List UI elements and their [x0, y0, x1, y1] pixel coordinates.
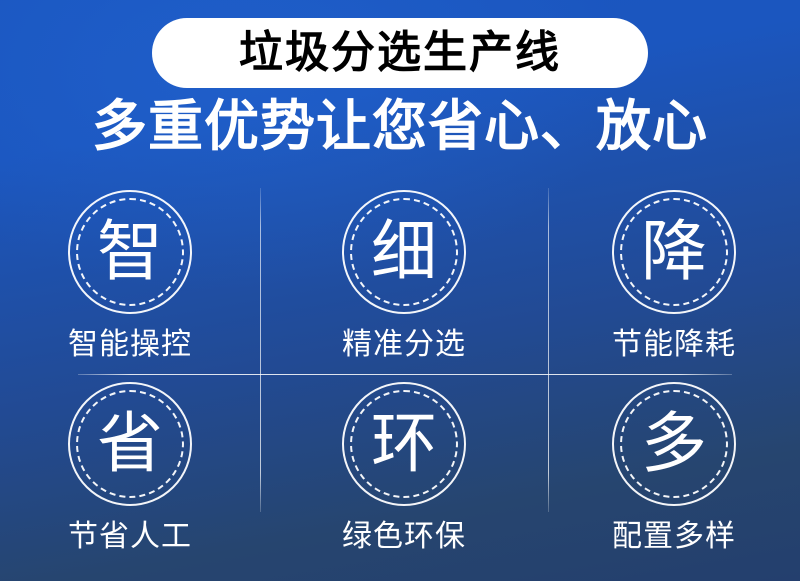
medallion-glyph: 智	[97, 219, 163, 285]
feature-label: 绿色环保	[342, 520, 466, 553]
medallion-glyph: 细	[371, 219, 437, 285]
feature-item-flexible-config: 多 配置多样	[548, 374, 800, 581]
medallion-glyph: 环	[371, 411, 437, 477]
feature-label: 智能操控	[68, 328, 192, 361]
medallion-circle-icon: 降	[612, 190, 736, 314]
page-title: 垃圾分选生产线	[239, 31, 561, 75]
medallion-circle-icon: 多	[612, 382, 736, 506]
feature-label: 配置多样	[612, 520, 736, 553]
feature-item-labor-saving: 省 节省人工	[0, 374, 260, 581]
medallion-glyph: 降	[641, 219, 707, 285]
subtitle: 多重优势让您省心、放心	[0, 92, 800, 161]
medallion-circle-icon: 细	[342, 190, 466, 314]
feature-item-energy-saving: 降 节能降耗	[548, 182, 800, 374]
title-pill: 垃圾分选生产线	[152, 18, 648, 88]
feature-item-eco-friendly: 环 绿色环保	[260, 374, 548, 581]
medallion-circle-icon: 省	[68, 382, 192, 506]
feature-item-smart-control: 智 智能操控	[0, 182, 260, 374]
feature-label: 节省人工	[68, 520, 192, 553]
medallion-circle-icon: 环	[342, 382, 466, 506]
medallion-glyph: 多	[641, 411, 707, 477]
medallion-circle-icon: 智	[68, 190, 192, 314]
medallion-glyph: 省	[97, 411, 163, 477]
feature-grid: 智 智能操控 细 精准分选 降 节能降耗 省 节省人工	[0, 182, 800, 581]
promo-banner: 垃圾分选生产线 多重优势让您省心、放心 智 智能操控 细 精准分选 降 节能降耗	[0, 0, 800, 581]
feature-item-precise-sorting: 细 精准分选	[260, 182, 548, 374]
feature-label: 精准分选	[342, 328, 466, 361]
feature-label: 节能降耗	[612, 328, 736, 361]
